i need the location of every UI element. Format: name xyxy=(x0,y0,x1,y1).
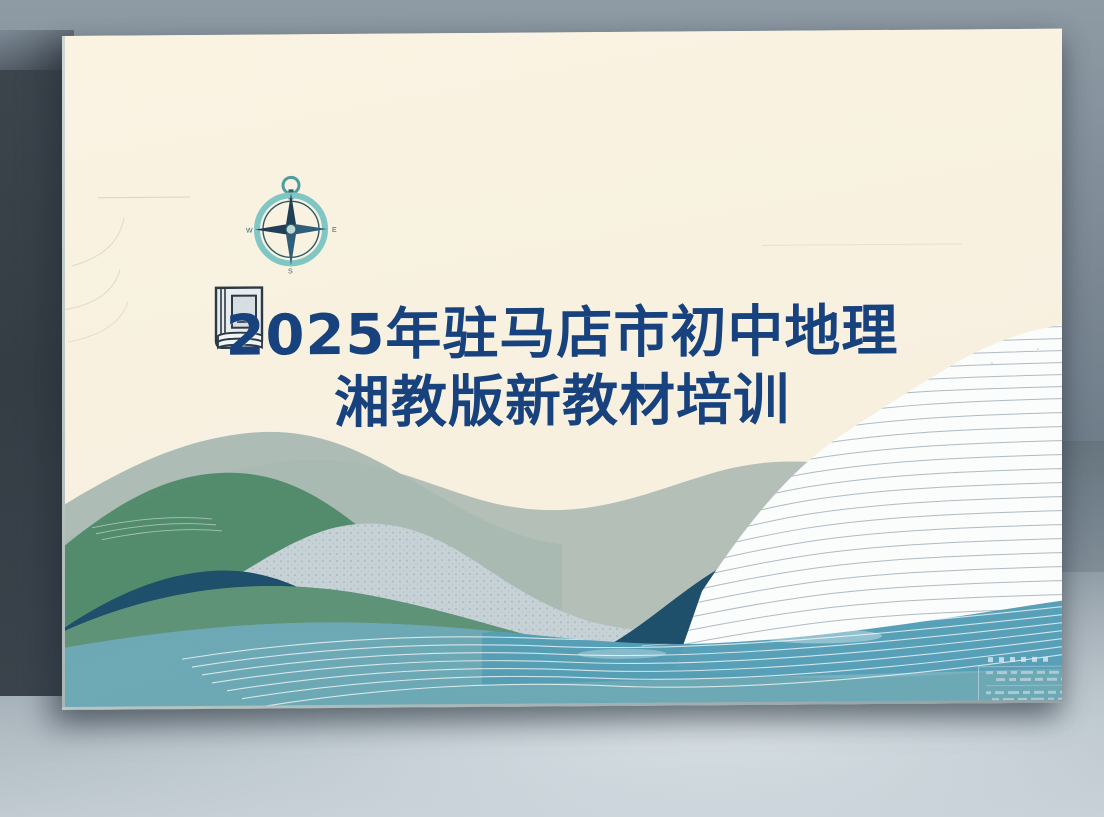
book-icon xyxy=(208,281,270,353)
svg-text:W: W xyxy=(246,228,253,235)
caption-header-dots xyxy=(988,656,1062,662)
svg-text:S: S xyxy=(288,268,293,275)
mountain-landscape-illustration xyxy=(62,29,1062,710)
poster-left-edge xyxy=(62,36,65,710)
poster-mockup-scene: 2025年驻马店市初中地理 湘教版新教材培训 W xyxy=(0,0,1104,817)
svg-text:E: E xyxy=(332,227,337,234)
poster-canvas: 2025年驻马店市初中地理 湘教版新教材培训 W xyxy=(62,29,1062,710)
compass-rose-icon: W E S xyxy=(242,171,340,276)
